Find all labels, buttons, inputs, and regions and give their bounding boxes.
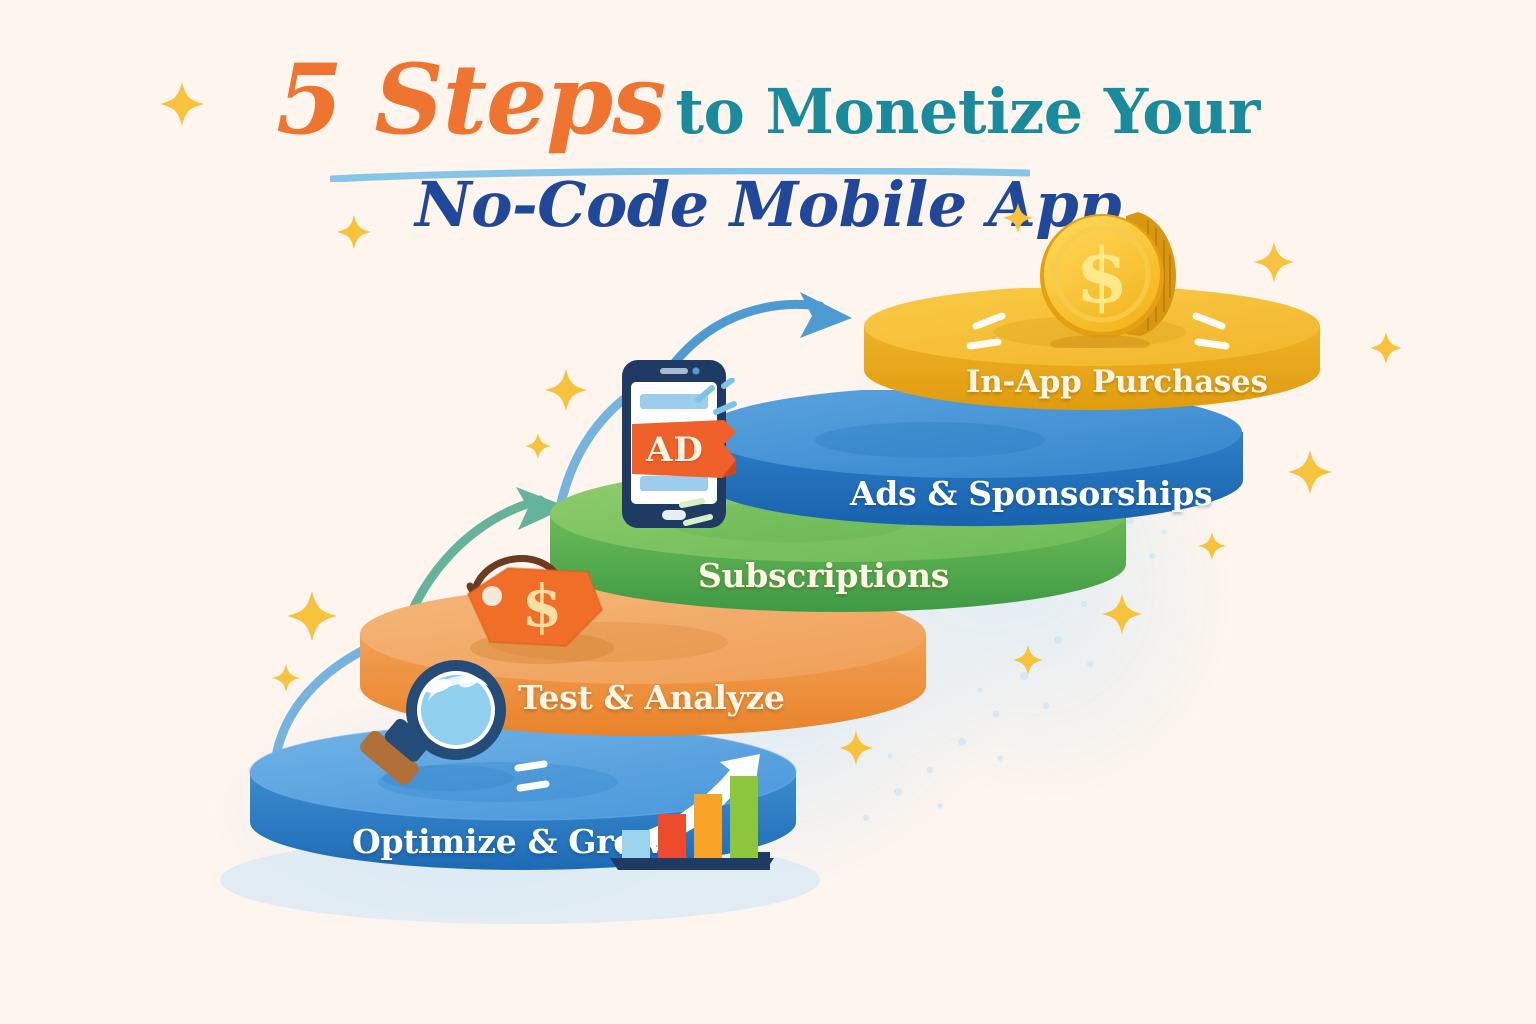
green-disc-sparkle-dashes — [676, 495, 746, 535]
arrow-step4-to-step5 — [672, 292, 852, 366]
magnifying-glass-icon — [352, 652, 532, 804]
phone-sparkle-dashes — [690, 378, 750, 428]
step-label-ads-sponsorships: Ads & Sponsorships — [850, 474, 1212, 513]
ad-banner-ribbon-icon: AD — [632, 420, 742, 480]
price-tag-dollar-icon: $ — [446, 548, 616, 666]
step-label-test-analyze: Test & Analyze — [518, 678, 785, 717]
coin-sparkle-dashes — [960, 300, 1240, 360]
ad-banner-label: AD — [646, 430, 704, 470]
infographic-canvas: 5 Stepsto Monetize Your No-Code Mobile A… — [0, 0, 1536, 1024]
step-label-subscriptions: Subscriptions — [698, 556, 949, 595]
magnifier-sparkle-dashes — [512, 756, 572, 804]
step-label-in-app-purchases: In-App Purchases — [966, 364, 1268, 400]
svg-text:$: $ — [522, 572, 562, 640]
bar-chart-growth-icon — [608, 748, 788, 874]
